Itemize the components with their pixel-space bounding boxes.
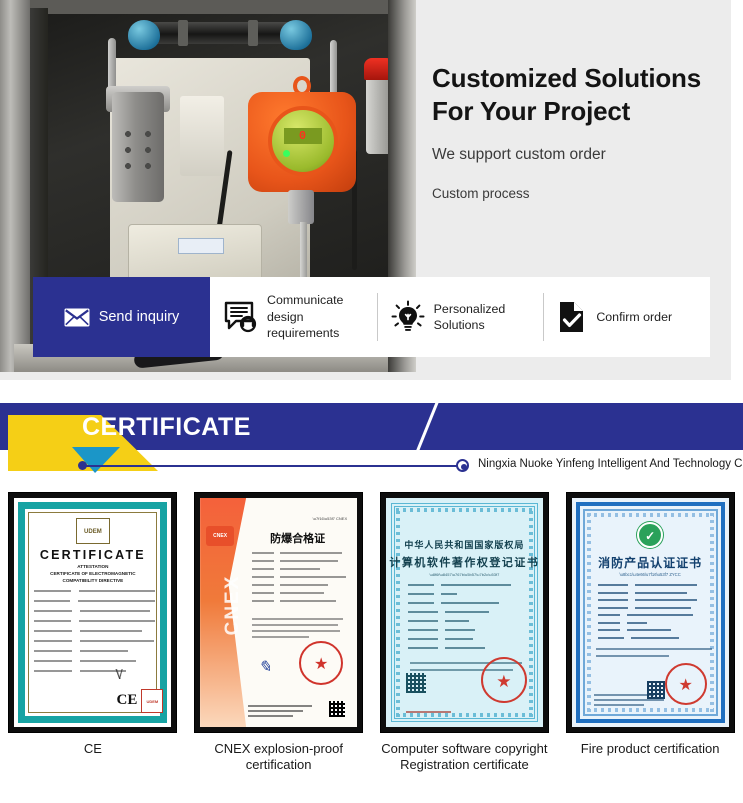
fp-red-seal: ★ (665, 663, 707, 705)
table-row (252, 568, 347, 570)
ce-detail-rows (34, 590, 155, 680)
sc-red-seal: ★ (481, 657, 527, 703)
table-row (252, 600, 347, 602)
certificate-cell-ce: UDEM CERTIFICATE ATTESTATIONCERTIFICATE … (0, 493, 186, 803)
cabinet-left-wall (0, 0, 30, 372)
white-module (180, 96, 224, 176)
table-row (34, 650, 155, 652)
fire-product-certificate-image: ✓ 消防产品认证证书 \u8bc1\u4e66\u7f16\u53f7 ZYCC… (572, 498, 729, 727)
blue-valve-right (280, 20, 312, 50)
certificate-banner: CERTIFICATE Ningxia Nuoke Yinfeng Intell… (0, 403, 743, 481)
table-row (252, 592, 347, 594)
send-inquiry-button[interactable]: Send inquiry (33, 277, 210, 357)
feature-item-personalized-label: Personalized Solutions (434, 301, 530, 334)
cnex-badge: CNEX (206, 526, 234, 546)
detector-cable (300, 222, 307, 282)
certificate-caption-fire: Fire product certification (562, 741, 738, 757)
table-row (598, 592, 713, 594)
ce-certificate-heading: CERTIFICATE (14, 548, 171, 562)
air-filter-vents (122, 128, 156, 176)
feature-item-communicate-label: Communicate design requirements (267, 292, 363, 341)
sc-serial-number: \u8f6f\u8457\u767b\u5b57\u7b2c\u53f7 (386, 572, 543, 577)
table-row (408, 593, 527, 595)
table-row (408, 647, 527, 649)
certificate-frame[interactable]: UDEM CERTIFICATE ATTESTATIONCERTIFICATE … (9, 493, 176, 732)
fp-serial-number: \u8bc1\u4e66\u7f16\u53f7 ZYCC (572, 572, 729, 577)
junction-box-label (178, 238, 224, 254)
feature-item-confirm-label: Confirm order (596, 309, 672, 325)
certificate-cell-software: 中华人民共和国国家版权局 计算机软件著作权登记证书 \u8f6f\u8457\u… (372, 493, 558, 803)
cnex-footer-text (248, 705, 312, 717)
feature-items: Communicate design requirements (210, 277, 710, 357)
table-row (408, 638, 527, 640)
hero-caption: Custom process (432, 186, 712, 201)
sc-qr-code (406, 673, 426, 693)
cnex-detail-rows (252, 552, 347, 608)
lightbulb-icon (391, 300, 425, 334)
company-name: Ningxia Nuoke Yinfeng Intelligent And Te… (478, 458, 743, 470)
cnex-certificate-image: CNEX CNEX \u7f16\u53f7 CNEX 防爆合格证 ✎ (200, 498, 357, 727)
certificate-caption-ce: CE (5, 741, 181, 757)
table-row (252, 584, 347, 586)
certificate-caption-cnex: CNEX explosion-proof certification (191, 741, 367, 774)
fire-cert-logo-icon: ✓ (637, 522, 663, 548)
table-row (408, 584, 527, 586)
table-row (598, 584, 713, 586)
ce-certificate-image: UDEM CERTIFICATE ATTESTATIONCERTIFICATE … (14, 498, 171, 727)
detector-reading: 0 (299, 129, 307, 143)
table-row (598, 629, 713, 631)
table-row (34, 660, 155, 662)
table-row (598, 607, 713, 609)
table-row (598, 622, 713, 624)
ce-certificate-subheading: ATTESTATIONCERTIFICATE OF ELECTROMAGNETI… (14, 564, 171, 585)
send-inquiry-label: Send inquiry (99, 309, 180, 325)
udem-seal: UDEM (141, 689, 163, 713)
table-row (34, 640, 155, 642)
ce-mark: CE (117, 692, 138, 709)
table-row (598, 599, 713, 601)
table-row (34, 620, 155, 622)
table-row (598, 614, 713, 616)
table-row (252, 576, 347, 578)
table-row (408, 620, 527, 622)
hero-title: Customized Solutions For Your Project (432, 62, 712, 129)
fp-qr-code (647, 681, 665, 699)
feature-item-personalized[interactable]: Personalized Solutions (377, 277, 544, 357)
certificate-frame[interactable]: CNEX CNEX \u7f16\u53f7 CNEX 防爆合格证 ✎ (195, 493, 362, 732)
cnex-doc-code: \u7f16\u53f7 CNEX (313, 516, 347, 521)
sc-detail-rows (408, 584, 527, 656)
gas-detector-display: 0 (284, 128, 322, 144)
cnex-watermark: CNEX (222, 550, 244, 660)
sc-footer-text (406, 711, 462, 713)
banner-title: CERTIFICATE (82, 413, 251, 442)
table-row (252, 552, 347, 554)
table-row (252, 560, 347, 562)
table-row (408, 602, 527, 604)
fp-paragraph (596, 648, 715, 662)
chat-support-icon (224, 301, 258, 333)
table-row (34, 600, 155, 602)
hero-text-block: Customized Solutions For Your Project We… (432, 62, 712, 201)
junction-box (128, 224, 262, 284)
cnex-heading: 防爆合格证 (246, 530, 349, 546)
detector-stem (288, 190, 314, 224)
cnex-qr-code (329, 701, 345, 717)
table-row (598, 637, 713, 639)
feature-item-communicate[interactable]: Communicate design requirements (210, 277, 377, 357)
certificate-cell-cnex: CNEX CNEX \u7f16\u53f7 CNEX 防爆合格证 ✎ (186, 493, 372, 803)
fp-heading: 消防产品认证证书 (572, 554, 729, 571)
table-row (408, 629, 527, 631)
detector-status-led (283, 150, 290, 157)
black-pipe (150, 22, 290, 44)
fp-detail-rows (598, 584, 713, 644)
envelope-icon (64, 308, 90, 327)
certificate-cell-fire: ✓ 消防产品认证证书 \u8bc1\u4e66\u7f16\u53f7 ZYCC… (557, 493, 743, 803)
certificate-frame[interactable]: 中华人民共和国国家版权局 计算机软件著作权登记证书 \u8f6f\u8457\u… (381, 493, 548, 732)
cnex-red-seal: ★ (299, 641, 343, 685)
banner-underline (82, 465, 462, 467)
table-row (408, 611, 527, 613)
udem-logo: UDEM (76, 518, 110, 544)
ce-signature (95, 669, 151, 679)
hero-subtitle: We support custom order (432, 146, 712, 164)
certificate-caption-software: Computer software copyright Registration… (376, 741, 552, 774)
software-copyright-certificate-image: 中华人民共和国国家版权局 计算机软件著作权登记证书 \u8f6f\u8457\u… (386, 498, 543, 727)
cnex-paragraph (252, 618, 347, 642)
document-check-icon (557, 300, 587, 334)
sc-heading-line1: 中华人民共和国国家版权局 (386, 538, 543, 551)
certificate-frame[interactable]: ✓ 消防产品认证证书 \u8bc1\u4e66\u7f16\u53f7 ZYCC… (567, 493, 734, 732)
banner-line-end-marker (456, 459, 469, 472)
table-row (34, 610, 155, 612)
table-row (34, 630, 155, 632)
blue-valve-left (128, 20, 160, 50)
cnex-signature: ✎ (258, 657, 271, 677)
certificate-grid: UDEM CERTIFICATE ATTESTATIONCERTIFICATE … (0, 493, 743, 803)
sc-heading-line2: 计算机软件著作权登记证书 (386, 554, 543, 570)
hero-right-edge (731, 0, 743, 380)
feature-item-confirm[interactable]: Confirm order (543, 277, 710, 357)
cabinet-top (30, 0, 388, 14)
feature-bar: Send inquiry Communicate design requirem… (33, 277, 710, 357)
hero-section: 0 Customized Solutions For Your Project … (0, 0, 743, 380)
table-row (34, 590, 155, 592)
